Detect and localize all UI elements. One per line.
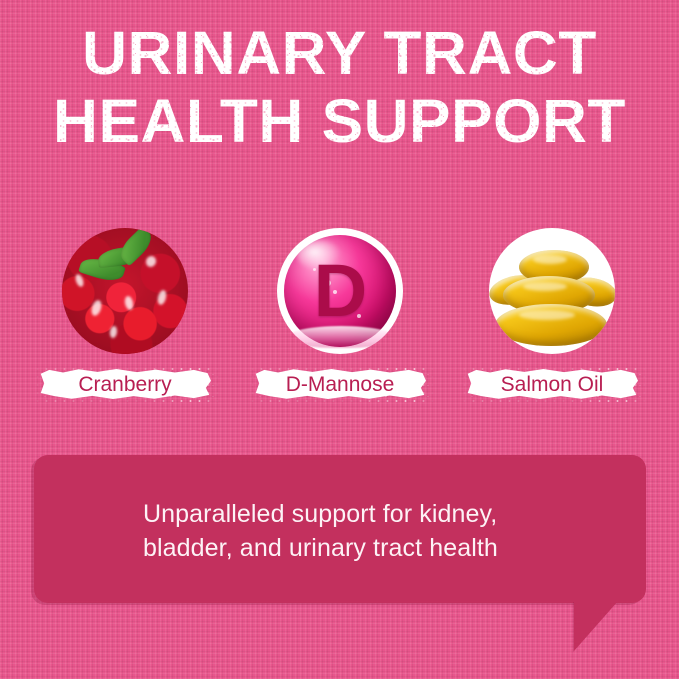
salmon-oil-softgels-icon <box>489 228 615 354</box>
ingredient-label-d-mannose: D-Mannose <box>286 374 395 395</box>
d-mannose-image-circle: D <box>277 228 403 354</box>
berry-highlight-icon <box>109 326 118 339</box>
product-infographic-poster: URINARY TRACT HEALTH SUPPORT <box>0 0 679 679</box>
d-mannose-sphere-icon: D <box>277 228 403 354</box>
berry-highlight-icon <box>156 289 167 305</box>
ingredient-item-cranberry[interactable]: Cranberry <box>25 228 225 400</box>
d-mannose-letter-d: D <box>277 228 403 354</box>
berry-highlight-icon <box>74 273 85 288</box>
speech-bubble-tail <box>574 601 618 651</box>
berry-highlight-icon <box>144 254 158 268</box>
callout-line-2: bladder, and urinary tract health <box>143 531 613 565</box>
berry-highlight-icon <box>124 295 135 310</box>
callout-line-1: Unparalleled support for kidney, <box>143 497 613 531</box>
capsule-highlight-icon <box>519 310 575 320</box>
capsule-highlight-icon <box>533 255 567 264</box>
cranberry-berries-icon <box>62 228 188 354</box>
d-mannose-label-banner: D-Mannose <box>254 368 426 400</box>
cranberry-image-circle <box>62 228 188 354</box>
capsule-highlight-icon <box>523 282 567 291</box>
callout-text: Unparalleled support for kidney, bladder… <box>143 497 613 565</box>
ingredient-label-salmon-oil: Salmon Oil <box>501 374 604 395</box>
ingredient-item-d-mannose[interactable]: D D-Mannose <box>240 228 440 400</box>
berry-highlight-icon <box>90 299 104 317</box>
ingredient-label-cranberry: Cranberry <box>78 374 171 395</box>
callout-speech-bubble: Unparalleled support for kidney, bladder… <box>34 455 646 655</box>
salmon-oil-image-circle <box>489 228 615 354</box>
salmon-oil-label-banner: Salmon Oil <box>466 368 638 400</box>
cranberry-label-banner: Cranberry <box>39 368 211 400</box>
ingredient-item-salmon-oil[interactable]: Salmon Oil <box>452 228 652 400</box>
